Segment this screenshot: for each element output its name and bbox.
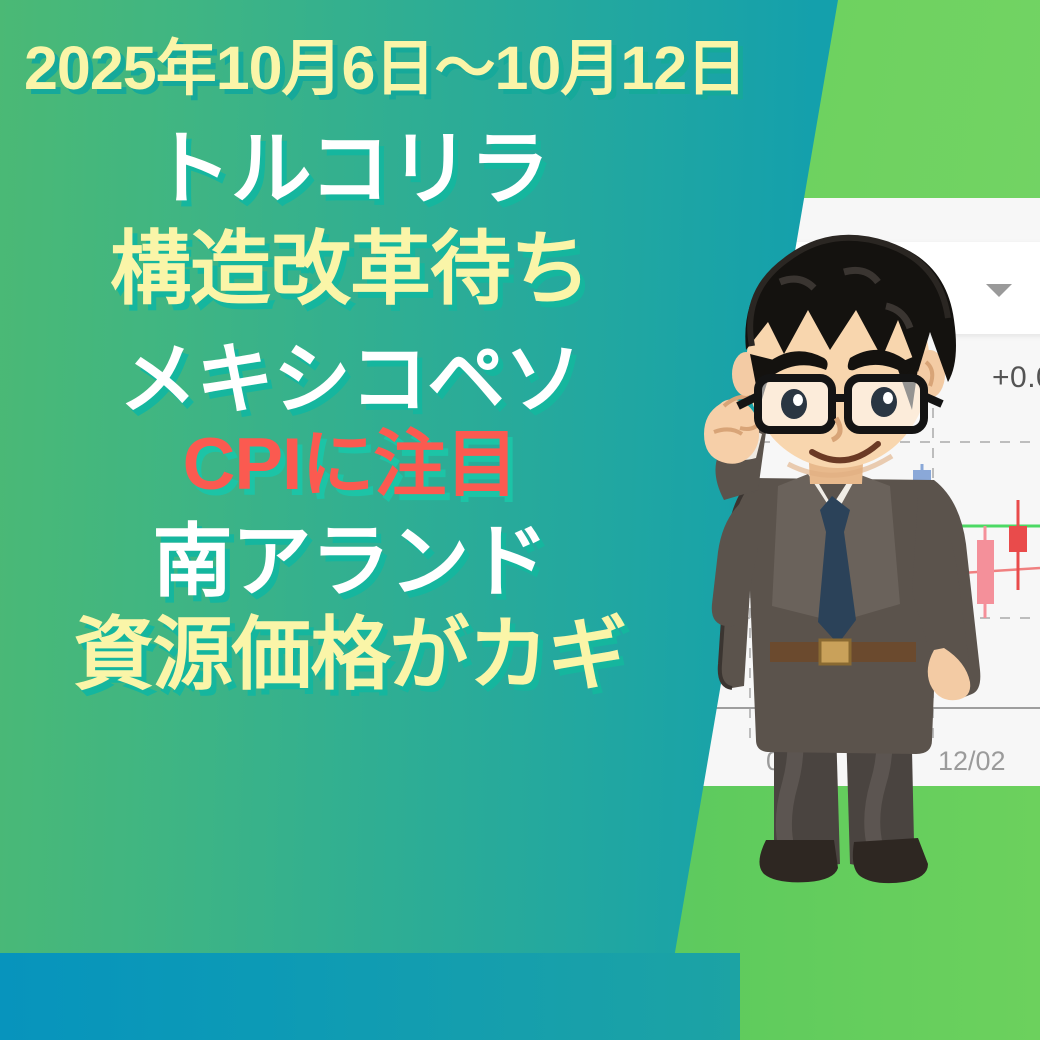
poster-canvas: +0.00 xyxy=(0,0,1040,1040)
headline-line-4: CPIに注目 xyxy=(0,426,700,503)
headline-line-2: 構造改革待ち xyxy=(0,228,700,314)
headline-line-3: メキシコペソ xyxy=(0,338,700,421)
mascot-character-illustration xyxy=(662,228,1040,908)
character-svg xyxy=(662,228,1040,908)
headline-line-1: トルコリラ xyxy=(0,128,700,214)
background-blue-band xyxy=(0,953,740,1040)
headline-stack: トルコリラ 構造改革待ち メキシコペソ CPIに注目 南アランド 資源価格がカギ xyxy=(0,128,700,697)
headline-line-5: 南アランド xyxy=(0,520,700,605)
headline-line-6: 資源価格がカギ xyxy=(0,613,700,698)
page-title-date-range: 2025年10月6日〜10月12日 xyxy=(24,18,746,107)
